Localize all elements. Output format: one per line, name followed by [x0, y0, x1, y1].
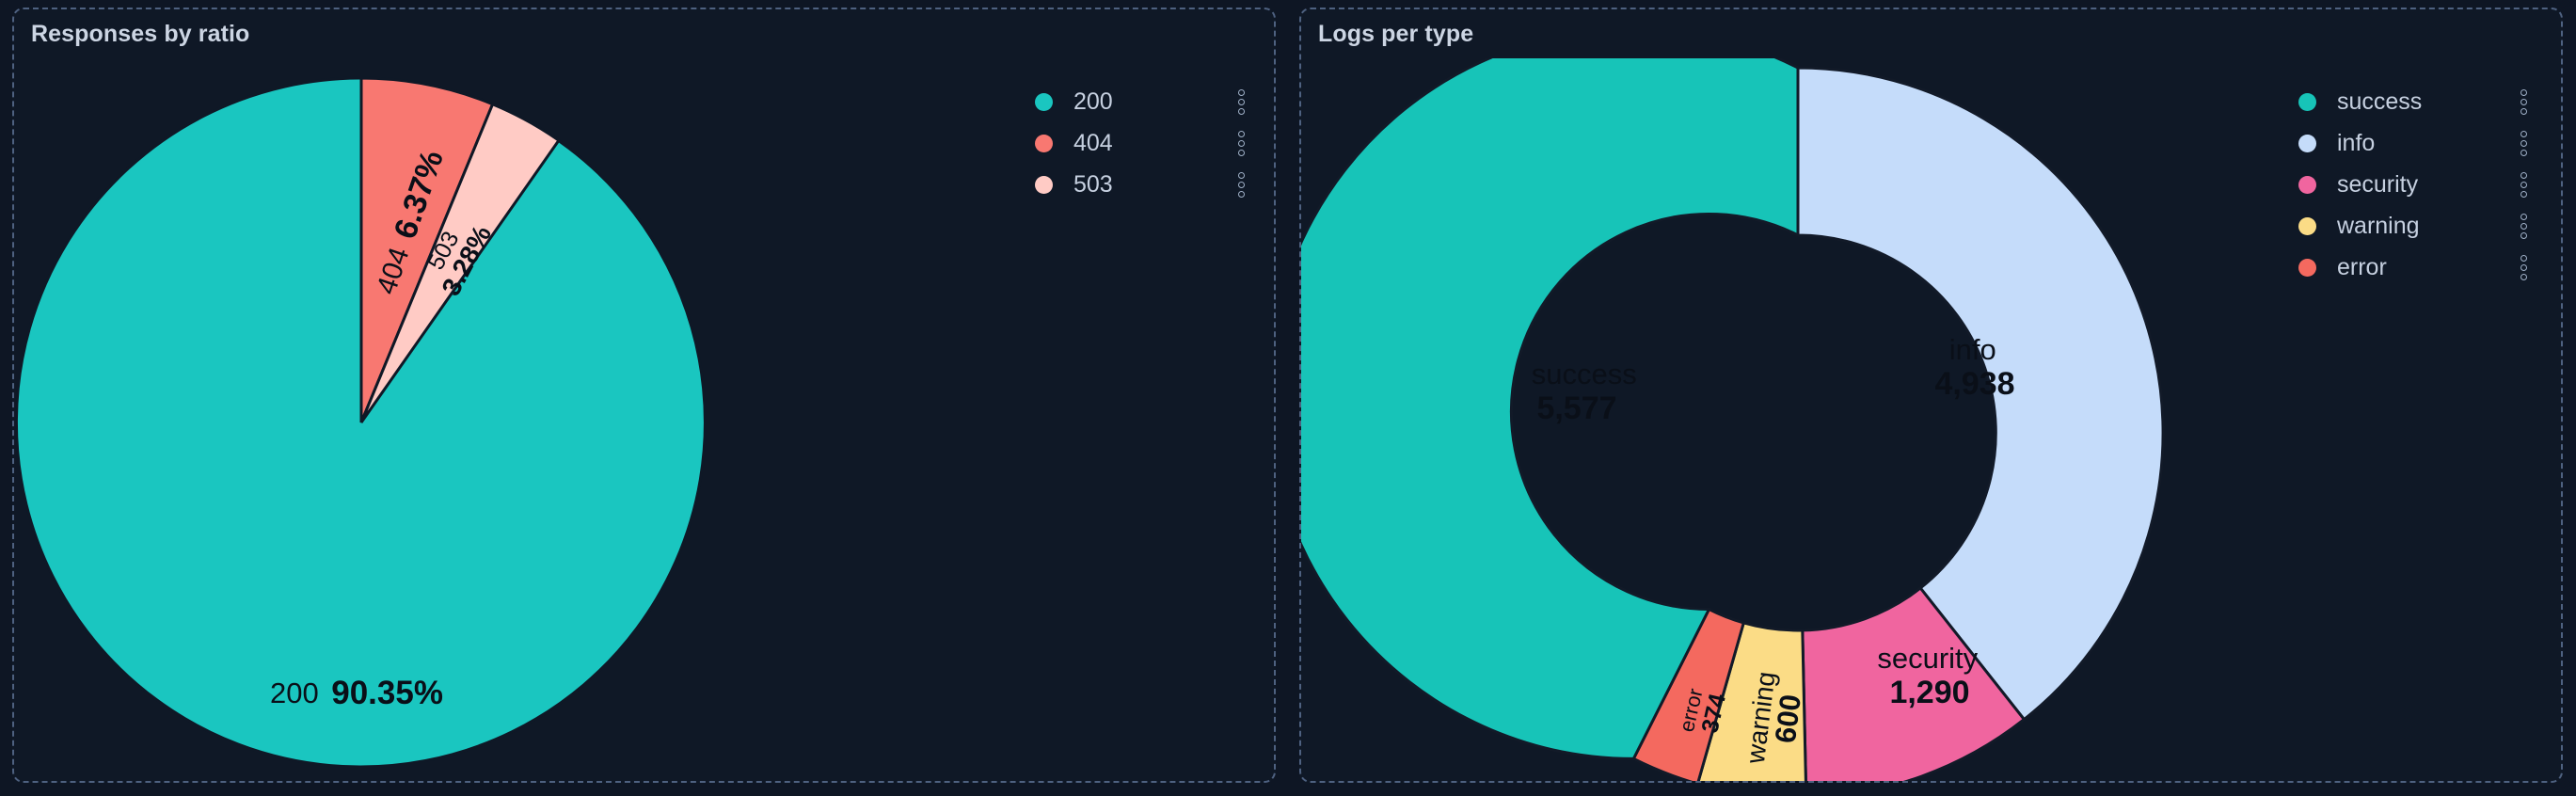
legend-item-503[interactable]: 503 [1035, 164, 1251, 205]
legend-responses: 200 404 503 [1035, 81, 1251, 205]
svg-text:security 1,290: security 1,290 [1877, 642, 1981, 710]
slice-label-success-value: 5,577 [1536, 390, 1616, 426]
kebab-menu-icon[interactable] [2513, 255, 2534, 280]
legend-swatch-success [2298, 93, 2316, 111]
legend-label-success: success [2337, 88, 2422, 116]
panel-body: 404 6.37% 503 3.28% [14, 58, 1274, 781]
donut-svg[interactable]: info 4,938 security 1,290 [1301, 58, 2289, 783]
slice-label-info-value: 4,938 [1934, 366, 2014, 402]
legend-swatch-404 [1035, 135, 1053, 152]
slice-label-security-name: security [1877, 642, 1978, 675]
legend-swatch-error [2298, 259, 2316, 277]
svg-text:200 90.35%: 200 90.35% [270, 675, 443, 711]
slice-label-200-value: 90.35% [331, 675, 443, 711]
panel-logs-per-type: Logs per type [1299, 8, 2563, 783]
kebab-menu-icon[interactable] [1231, 172, 1251, 198]
page-title: Logs per type [1318, 21, 1473, 48]
kebab-menu-icon[interactable] [1231, 131, 1251, 156]
legend-swatch-security [2298, 176, 2316, 194]
kebab-menu-icon[interactable] [2513, 172, 2534, 198]
legend-item-info[interactable]: info [2298, 122, 2534, 164]
slice-label-success: success 5,577 [1532, 358, 1641, 426]
slice-label-security-value: 1,290 [1889, 675, 1969, 710]
legend-label-200: 200 [1073, 88, 1113, 116]
legend-swatch-503 [1035, 176, 1053, 194]
legend-item-security[interactable]: security [2298, 164, 2534, 205]
slice-label-success-name: success [1532, 358, 1637, 390]
legend-label-warning: warning [2337, 213, 2420, 240]
kebab-menu-icon[interactable] [2513, 89, 2534, 115]
panel-header: Logs per type [1301, 9, 2561, 58]
page-title: Responses by ratio [31, 21, 249, 48]
kebab-menu-icon[interactable] [2513, 131, 2534, 156]
pie-chart-responses[interactable]: 404 6.37% 503 3.28% [14, 58, 1002, 781]
legend-swatch-info [2298, 135, 2316, 152]
legend-swatch-200 [1035, 93, 1053, 111]
donut-chart-logs[interactable]: info 4,938 security 1,290 [1301, 58, 2289, 781]
kebab-menu-icon[interactable] [2513, 214, 2534, 239]
kebab-menu-icon[interactable] [1231, 89, 1251, 115]
legend-item-200[interactable]: 200 [1035, 81, 1251, 122]
slice-label-info-name: info [1949, 333, 1996, 366]
panel-body: info 4,938 security 1,290 [1301, 58, 2561, 781]
slice-label-200-name: 200 [270, 677, 319, 709]
panel-responses-by-ratio: Responses by ratio 404 [12, 8, 1276, 783]
legend-item-warning[interactable]: warning [2298, 205, 2534, 247]
legend-label-info: info [2337, 130, 2375, 157]
slice-label-200: 200 90.35% [270, 675, 443, 711]
legend-logs: success info security [2298, 81, 2534, 288]
dashboard-board: Responses by ratio 404 [0, 0, 2576, 796]
legend-label-error: error [2337, 254, 2387, 281]
legend-item-success[interactable]: success [2298, 81, 2534, 122]
svg-text:success 5,577: success 5,577 [1532, 358, 1641, 426]
legend-label-503: 503 [1073, 171, 1113, 199]
panel-header: Responses by ratio [14, 9, 1274, 58]
pie-svg[interactable]: 404 6.37% 503 3.28% [14, 58, 1002, 783]
legend-item-404[interactable]: 404 [1035, 122, 1251, 164]
legend-label-security: security [2337, 171, 2418, 199]
legend-swatch-warning [2298, 217, 2316, 235]
legend-label-404: 404 [1073, 130, 1113, 157]
slice-label-security: security 1,290 [1877, 642, 1981, 710]
legend-item-error[interactable]: error [2298, 247, 2534, 288]
slice-label-warning-value: 600 [1769, 693, 1807, 745]
